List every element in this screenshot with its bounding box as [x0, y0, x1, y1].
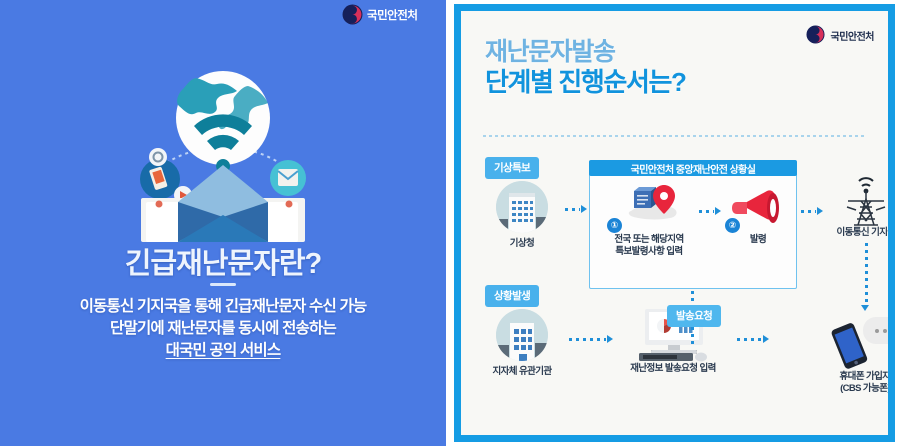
node-label: 이동통신 기지국	[821, 227, 895, 239]
poster-stage: 국민안전처	[0, 0, 900, 446]
title-divider	[210, 283, 236, 286]
step-1-data-input: ① 전국 또는 해당지역특보발령사항 입력	[601, 181, 697, 258]
left-panel: 국민안전처	[0, 0, 446, 446]
arrow-step1-to-step2	[699, 209, 721, 213]
node-phone-subscriber: 휴대폰 가입자 (CBS 가능폰)	[813, 315, 895, 395]
taegeuk-logo-icon	[342, 4, 363, 25]
request-line-lower	[691, 327, 694, 345]
message-bubble-icon	[863, 317, 895, 344]
pill-send-request: 발송요청	[667, 305, 721, 327]
title-dotted-divider	[483, 135, 864, 137]
left-agency-name: 국민안전처	[367, 7, 417, 23]
building-icon	[496, 309, 548, 361]
flow-diagram: 기상특보	[461, 151, 888, 435]
pill-incident: 상황발생	[485, 285, 539, 307]
envelope-icon	[178, 165, 268, 242]
right-agency-logo: 국민안전처	[806, 25, 875, 46]
globe-wifi-icon	[176, 71, 270, 173]
subtitle-line-3: 대국민 공익 서비스	[0, 340, 446, 362]
subtitle-line-2: 단말기에 재난문자를 동시에 전송하는	[0, 318, 446, 340]
node-weather-agency: 기상청	[479, 181, 565, 250]
node-label: 지자체 유관기관	[475, 366, 569, 378]
right-panel: 국민안전처 재난문자발송 단계별 진행순서는? 기상특보	[446, 0, 900, 446]
node-label-line2: (CBS 가능폰)	[813, 383, 895, 395]
mail-open-icon	[270, 160, 306, 196]
arrow-room-to-station	[801, 209, 823, 213]
left-agency-logo: 국민안전처	[342, 4, 446, 25]
building-icon	[496, 181, 548, 233]
right-frame: 국민안전처 재난문자발송 단계별 진행순서는? 기상특보	[454, 4, 895, 442]
node-label: 재난정보 발송요청 입력	[611, 363, 735, 375]
arrow-gov-to-computer	[569, 337, 613, 341]
arrow-computer-to-request	[737, 337, 769, 341]
arrow-station-to-phone-head	[861, 305, 869, 311]
subtitle-line-1: 이동통신 기지국을 통해 긴급재난문자 수신 가능	[0, 296, 446, 318]
arrow-weather-to-room	[565, 207, 587, 211]
megaphone-icon	[732, 190, 779, 223]
left-illustration	[0, 46, 446, 242]
taegeuk-logo-icon	[806, 25, 827, 46]
right-agency-name: 국민안전처	[831, 28, 875, 43]
node-base-station: 이동통신 기지국	[821, 165, 895, 239]
step-2-label: 발령	[723, 234, 793, 246]
node-label-line1: 휴대폰 가입자	[813, 371, 895, 383]
page-subtitle: 이동통신 기지국을 통해 긴급재난문자 수신 가능 단말기에 재난문자를 동시에…	[0, 296, 446, 362]
title-line-2: 단계별 진행순서는?	[485, 67, 685, 97]
node-local-government: 지자체 유관기관	[475, 309, 569, 378]
arrow-station-to-phone-line	[865, 243, 868, 305]
gear-icon	[149, 148, 167, 166]
right-panel-title: 재난문자발송 단계별 진행순서는?	[485, 37, 685, 97]
step-number-badge: ①	[607, 218, 622, 233]
node-label: 기상청	[479, 238, 565, 250]
page-title: 긴급재난문자란?	[0, 240, 446, 282]
step-2-dispatch: ② 발령	[723, 181, 793, 246]
pill-weather-alert: 기상특보	[485, 157, 539, 179]
step-number-badge: ②	[725, 218, 740, 233]
cell-tower-icon	[821, 165, 895, 227]
situation-room-header: 국민안전처 중앙재난안전 상황실	[589, 160, 797, 176]
step-1-label: 전국 또는 해당지역특보발령사항 입력	[601, 234, 697, 258]
title-line-1: 재난문자발송	[485, 37, 685, 67]
